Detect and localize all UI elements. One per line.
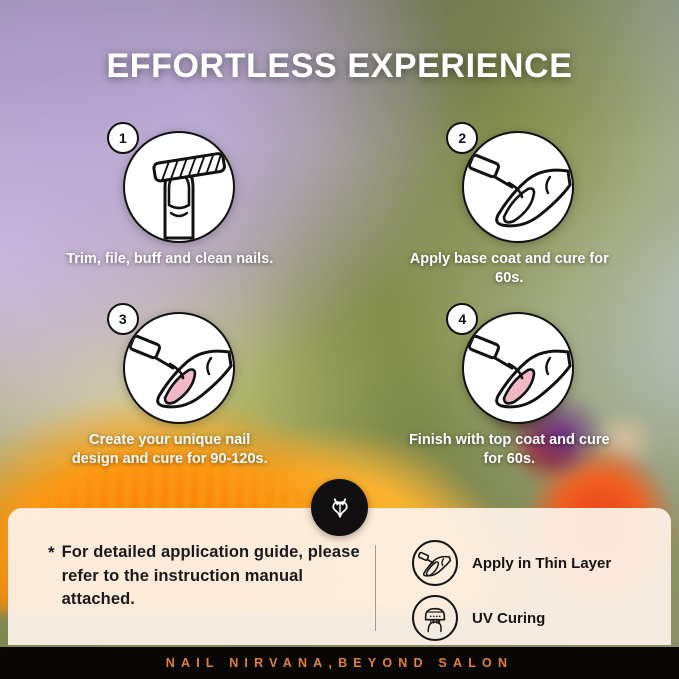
step-item-4: 4 Finish with top coat and cure for 60s. [340, 303, 679, 470]
step-3-caption: Create your unique nail design and cure … [65, 431, 275, 470]
steps-row-bottom: 3 Create your unique nail desi [0, 303, 679, 470]
step-2-number: 2 [446, 122, 478, 154]
feature-label-thin-layer: Apply in Thin Layer [472, 555, 611, 572]
page-title: EFFORTLESS EXPERIENCE [0, 47, 679, 86]
step-4-number: 4 [446, 303, 478, 335]
step-item-1: 1 [0, 122, 340, 289]
footer-tagline: NAIL NIRVANA,BEYOND SALON [166, 656, 513, 670]
note-asterisk: * [48, 541, 55, 613]
footer-bar: NAIL NIRVANA,BEYOND SALON [0, 647, 679, 679]
step-2-caption: Apply base coat and cure for 60s. [404, 250, 614, 289]
brush-nail-design-icon [123, 312, 235, 424]
feature-item-uv-curing: UV Curing [412, 595, 611, 641]
feature-list: Apply in Thin Layer [412, 540, 611, 641]
step-1-number: 1 [107, 122, 139, 154]
note-text: For detailed application guide, please r… [62, 541, 368, 613]
brush-thin-layer-icon [412, 540, 458, 586]
uv-lamp-icon [412, 595, 458, 641]
step-4-illustration-wrap: 4 [446, 303, 572, 423]
brush-top-coat-icon [462, 312, 574, 424]
step-item-3: 3 Create your unique nail desi [0, 303, 340, 470]
step-3-number: 3 [107, 303, 139, 335]
steps-section: 1 [0, 122, 679, 470]
butterfly-logo-icon [311, 479, 368, 536]
nail-file-icon [123, 131, 235, 243]
step-1-illustration-wrap: 1 [107, 122, 233, 242]
panel-divider [375, 545, 376, 631]
application-guide-note: * For detailed application guide, please… [8, 541, 368, 613]
feature-item-thin-layer: Apply in Thin Layer [412, 540, 611, 586]
step-2-illustration-wrap: 2 [446, 122, 572, 242]
step-1-caption: Trim, file, buff and clean nails. [65, 250, 275, 269]
step-item-2: 2 [340, 122, 679, 289]
promo-graphic: EFFORTLESS EXPERIENCE 1 [0, 0, 679, 679]
steps-row-top: 1 [0, 122, 679, 289]
step-3-illustration-wrap: 3 [107, 303, 233, 423]
brush-base-coat-icon [462, 131, 574, 243]
step-4-caption: Finish with top coat and cure for 60s. [404, 431, 614, 470]
feature-label-uv-curing: UV Curing [472, 610, 545, 627]
